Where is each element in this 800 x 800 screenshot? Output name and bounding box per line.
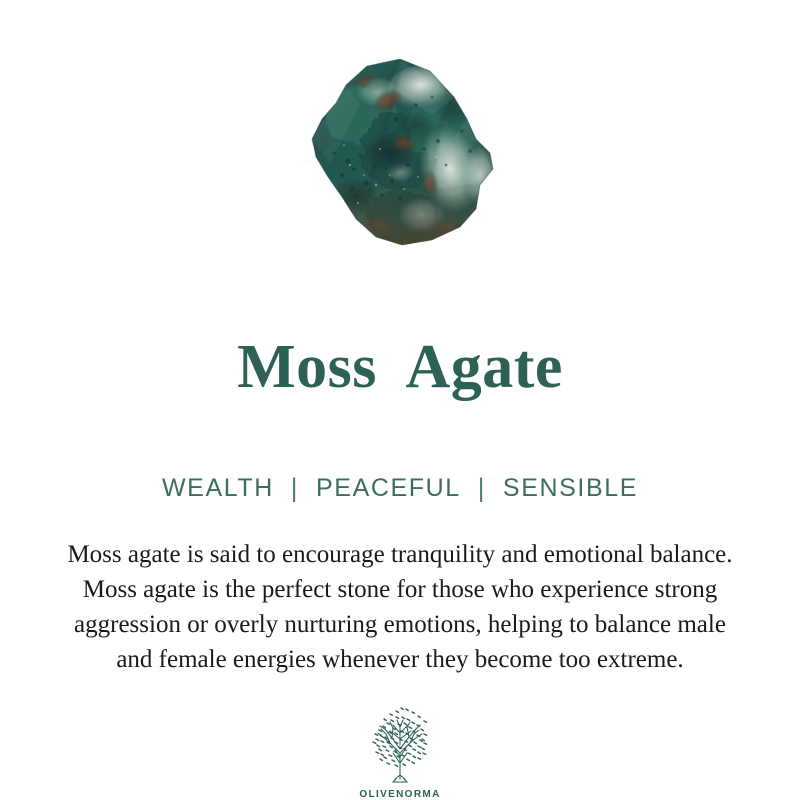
description-line: Moss agate is said to encourage tranquil… bbox=[40, 537, 760, 572]
product-description: Moss agate is said to encourage tranquil… bbox=[40, 537, 760, 677]
olive-tree-icon bbox=[362, 705, 438, 785]
attribute-sensible: SENSIBLE bbox=[503, 474, 638, 503]
product-attributes: WEALTH | PEACEFUL | SENSIBLE bbox=[162, 474, 638, 503]
moss-agate-stone-image bbox=[304, 57, 504, 247]
brand-name: OLIVENORMA bbox=[359, 789, 440, 800]
attribute-separator: | bbox=[291, 473, 299, 503]
page-title: Moss Agate bbox=[237, 336, 563, 398]
stone-image-container bbox=[0, 0, 800, 298]
description-line: Moss agate is the perfect stone for thos… bbox=[40, 572, 760, 607]
brand-logo: OLIVENORMA bbox=[359, 705, 440, 800]
attribute-peaceful: PEACEFUL bbox=[316, 474, 461, 503]
attribute-separator: | bbox=[478, 473, 486, 503]
description-line: and female energies whenever they become… bbox=[40, 642, 760, 677]
attribute-wealth: WEALTH bbox=[162, 474, 274, 503]
description-line: aggression or overly nurturing emotions,… bbox=[40, 607, 760, 642]
product-info-card: Moss Agate WEALTH | PEACEFUL | SENSIBLE … bbox=[0, 0, 800, 800]
